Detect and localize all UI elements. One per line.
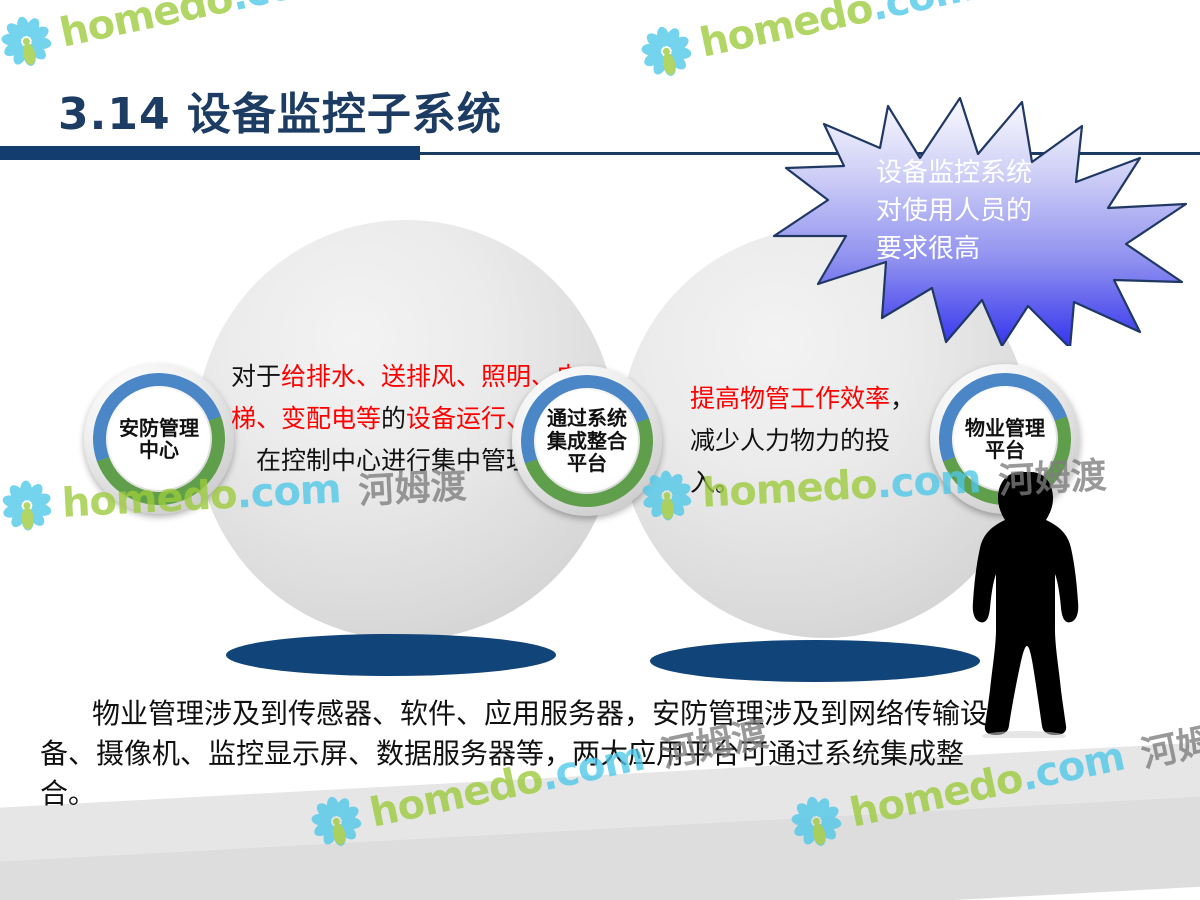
starburst-text: 设备监控系统对使用人员的要求很高	[876, 154, 1036, 268]
watermark-brand-text: homedo.com	[56, 0, 338, 57]
node-disc: 通过系统 集成整合 平台	[536, 390, 638, 492]
node-label: 安防管理 中心	[119, 417, 199, 462]
sphere-shadow-left	[226, 634, 556, 676]
watermark-brand-text: homedo.com	[696, 0, 978, 67]
node-label: 物业管理 平台	[965, 417, 1045, 462]
sphere-shadow-right	[650, 640, 980, 682]
node-label: 通过系统 集成整合 平台	[547, 407, 627, 474]
para-left-seg-2: 的	[381, 404, 406, 433]
homedo-flower-logo-icon	[634, 19, 698, 83]
node-security-center[interactable]: 安防管理 中心	[84, 364, 234, 514]
paragraph-right: 提高物管工作效率，减少人力物力的投入。	[690, 378, 938, 504]
para-left-seg-0: 对于	[231, 362, 281, 391]
node-integration-platform[interactable]: 通过系统 集成整合 平台	[512, 366, 662, 516]
starburst-callout[interactable]: 设备监控系统对使用人员的要求很高	[770, 96, 1190, 346]
watermark: homedo.com河姆渡	[634, 0, 1102, 83]
para-right-seg-0: 提高物管工作效率	[690, 384, 890, 413]
watermark-brand-cn: 河姆渡	[986, 0, 1102, 8]
watermark: homedo.com河姆渡	[0, 0, 462, 73]
para-left-seg-4: 在控制中心进行集中管理。	[256, 446, 556, 475]
homedo-flower-logo-icon	[0, 9, 58, 73]
page-title: 3.14 设备监控子系统	[58, 78, 502, 142]
homedo-flower-logo-icon	[0, 477, 55, 534]
title-rule-thick	[0, 146, 420, 160]
node-disc: 安防管理 中心	[108, 388, 210, 490]
summary-paragraph: 物业管理涉及到传感器、软件、应用服务器，安防管理涉及到网络传输设备、摄像机、监控…	[40, 694, 990, 814]
slide-canvas: 3.14 设备监控子系统 对于给排水、送排风、照明、电梯、变配电等的设备运行、维…	[0, 0, 1200, 900]
